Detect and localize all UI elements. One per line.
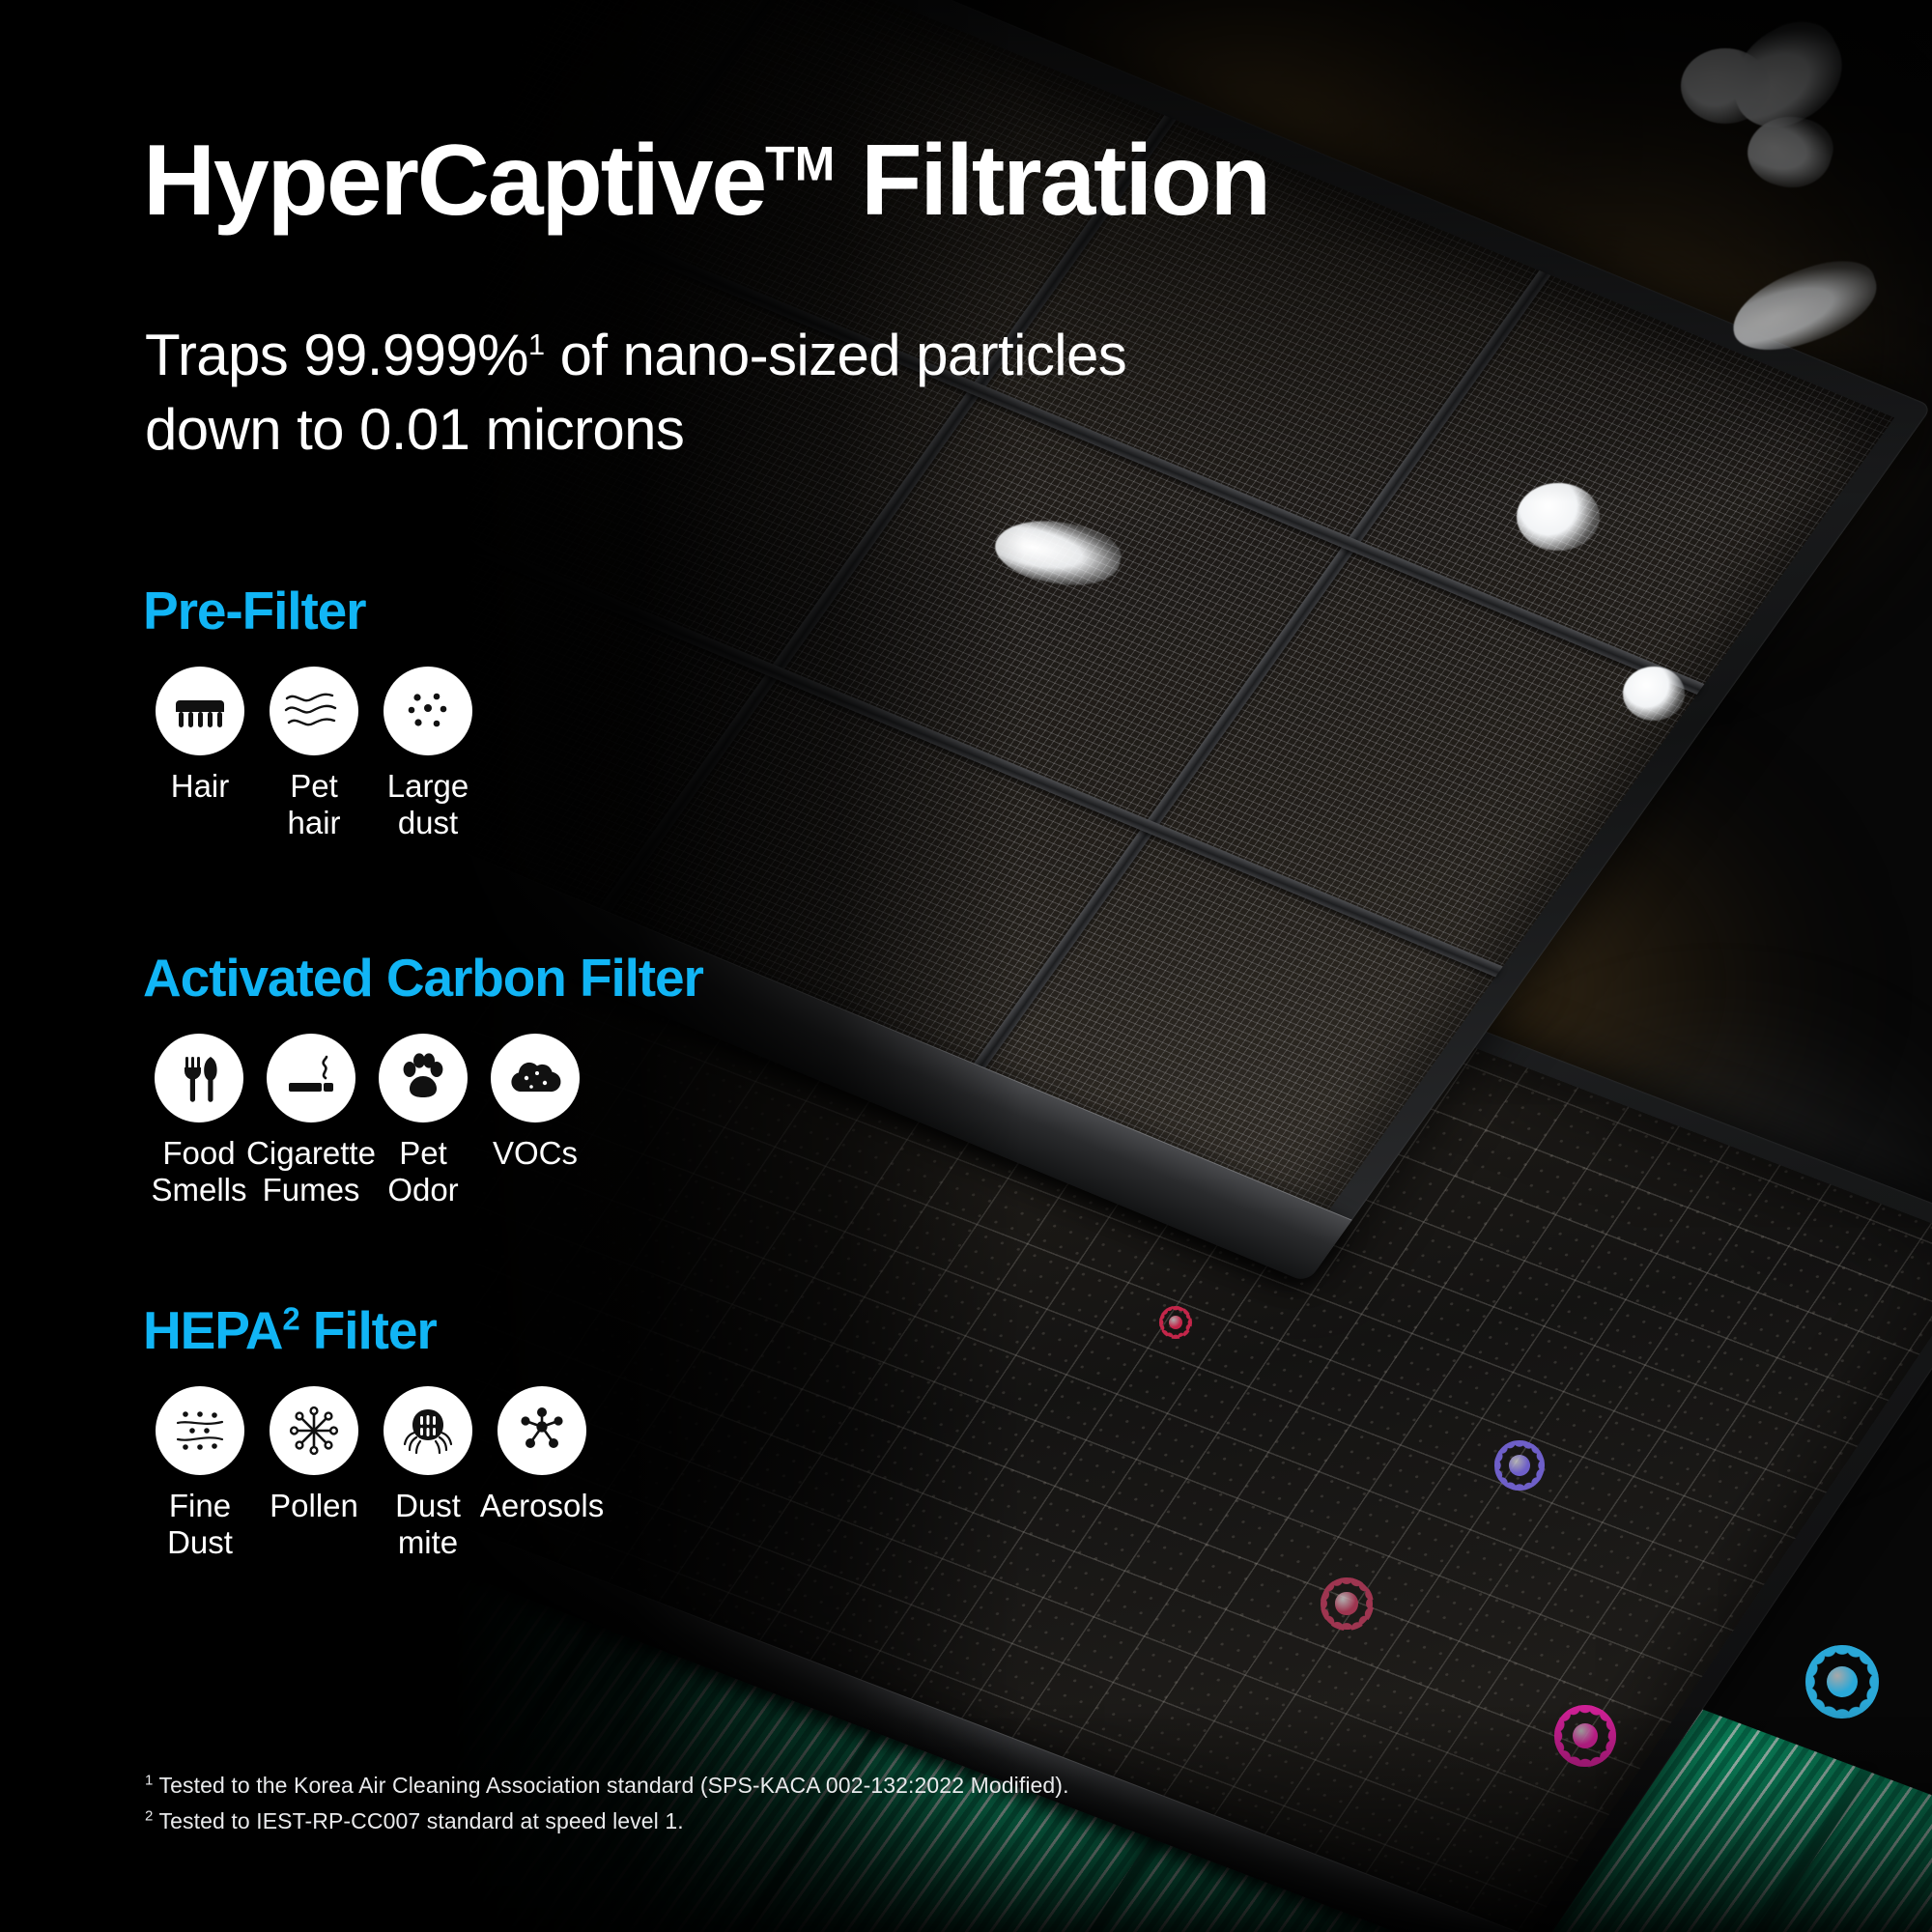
icon-label: VOCs bbox=[493, 1135, 578, 1172]
icon-circle bbox=[156, 667, 244, 755]
icon-circle bbox=[270, 667, 358, 755]
icon-circle bbox=[155, 1034, 243, 1122]
section-hepa-filter: HEPA2 Filter bbox=[143, 1299, 599, 1560]
footnote-2-text: Tested to IEST-RP-CC007 standard at spee… bbox=[153, 1808, 683, 1833]
icon-item-pollen[interactable]: Pollen bbox=[257, 1386, 371, 1524]
subtitle: Traps 99.999%1 of nano-sized particles d… bbox=[145, 319, 1126, 468]
icon-item-large-dust[interactable]: Large dust bbox=[371, 667, 485, 840]
subtitle-line-1-pre: Traps 99.999% bbox=[145, 323, 528, 387]
footnote-1: 1 Tested to the Korea Air Cleaning Assoc… bbox=[145, 1768, 1069, 1804]
footnote-2: 2 Tested to IEST-RP-CC007 standard at sp… bbox=[145, 1804, 1069, 1839]
icon-circle bbox=[379, 1034, 468, 1122]
paw-print-icon bbox=[396, 1051, 450, 1105]
icon-circle bbox=[267, 1034, 355, 1122]
icon-row: Fine Dust bbox=[143, 1386, 599, 1560]
icon-circle bbox=[384, 667, 472, 755]
icon-circle bbox=[270, 1386, 358, 1475]
subtitle-line-1-post: of nano-sized particles bbox=[545, 323, 1127, 387]
fine-dust-icon bbox=[172, 1405, 228, 1457]
title-suffix: Filtration bbox=[835, 125, 1269, 237]
trademark-symbol: TM bbox=[765, 136, 835, 190]
section-activated-carbon-filter: Activated Carbon Filter Food Smells bbox=[143, 947, 703, 1207]
section-heading: Activated Carbon Filter bbox=[143, 947, 703, 1009]
icon-label: Cigarette Fumes bbox=[246, 1135, 376, 1207]
page-title: HyperCaptiveTM Filtration bbox=[143, 124, 1269, 239]
footnote-marker-1: 1 bbox=[528, 327, 545, 361]
icon-label: Pollen bbox=[270, 1488, 358, 1524]
icon-label: Pet Odor bbox=[387, 1135, 458, 1207]
icon-label: Pet hair bbox=[287, 768, 340, 840]
large-dust-dots-icon bbox=[400, 683, 456, 739]
icon-label: Aerosols bbox=[480, 1488, 604, 1524]
footnotes: 1 Tested to the Korea Air Cleaning Assoc… bbox=[145, 1768, 1069, 1840]
footnote-marker-2: 2 bbox=[282, 1301, 298, 1337]
section-heading: HEPA2 Filter bbox=[143, 1299, 599, 1361]
icon-label: Food Smells bbox=[151, 1135, 246, 1207]
icon-item-pet-hair[interactable]: Pet hair bbox=[257, 667, 371, 840]
aerosol-molecule-icon bbox=[515, 1404, 569, 1458]
icon-item-food-smells[interactable]: Food Smells bbox=[143, 1034, 255, 1207]
pollen-icon bbox=[287, 1404, 341, 1458]
comb-icon bbox=[172, 683, 228, 739]
footnote-1-text: Tested to the Korea Air Cleaning Associa… bbox=[153, 1773, 1068, 1798]
icon-label: Hair bbox=[171, 768, 230, 805]
icon-item-aerosols[interactable]: Aerosols bbox=[485, 1386, 599, 1524]
icon-circle bbox=[156, 1386, 244, 1475]
icon-label: Fine Dust bbox=[167, 1488, 233, 1560]
section-heading: Pre-Filter bbox=[143, 580, 485, 641]
infographic-content: HyperCaptiveTM Filtration Traps 99.999%1… bbox=[0, 0, 1932, 1932]
icon-circle bbox=[491, 1034, 580, 1122]
section-heading-text: HEPA bbox=[143, 1300, 282, 1360]
subtitle-line-2: down to 0.01 microns bbox=[145, 393, 1126, 468]
gas-cloud-icon bbox=[505, 1053, 565, 1103]
icon-row: Hair Pet hair bbox=[143, 667, 485, 840]
icon-row: Food Smells Cigarette Fumes bbox=[143, 1034, 703, 1207]
fork-knife-icon bbox=[174, 1051, 224, 1105]
icon-circle bbox=[497, 1386, 586, 1475]
icon-label: Large dust bbox=[387, 768, 469, 840]
icon-item-dust-mite[interactable]: Dust mite bbox=[371, 1386, 485, 1560]
section-pre-filter: Pre-Filter Hair bbox=[143, 580, 485, 840]
title-brand: HyperCaptive bbox=[143, 125, 765, 237]
cigarette-icon bbox=[283, 1051, 339, 1105]
wavy-hair-icon bbox=[283, 683, 345, 739]
icon-item-pet-odor[interactable]: Pet Odor bbox=[367, 1034, 479, 1207]
icon-item-vocs[interactable]: VOCs bbox=[479, 1034, 591, 1172]
icon-label: Dust mite bbox=[395, 1488, 461, 1560]
icon-item-hair[interactable]: Hair bbox=[143, 667, 257, 805]
subtitle-line-1: Traps 99.999%1 of nano-sized particles bbox=[145, 319, 1126, 393]
icon-circle bbox=[384, 1386, 472, 1475]
section-heading-tail: Filter bbox=[299, 1300, 437, 1360]
icon-item-fine-dust[interactable]: Fine Dust bbox=[143, 1386, 257, 1560]
icon-item-cigarette-fumes[interactable]: Cigarette Fumes bbox=[255, 1034, 367, 1207]
dust-mite-icon bbox=[400, 1404, 456, 1458]
